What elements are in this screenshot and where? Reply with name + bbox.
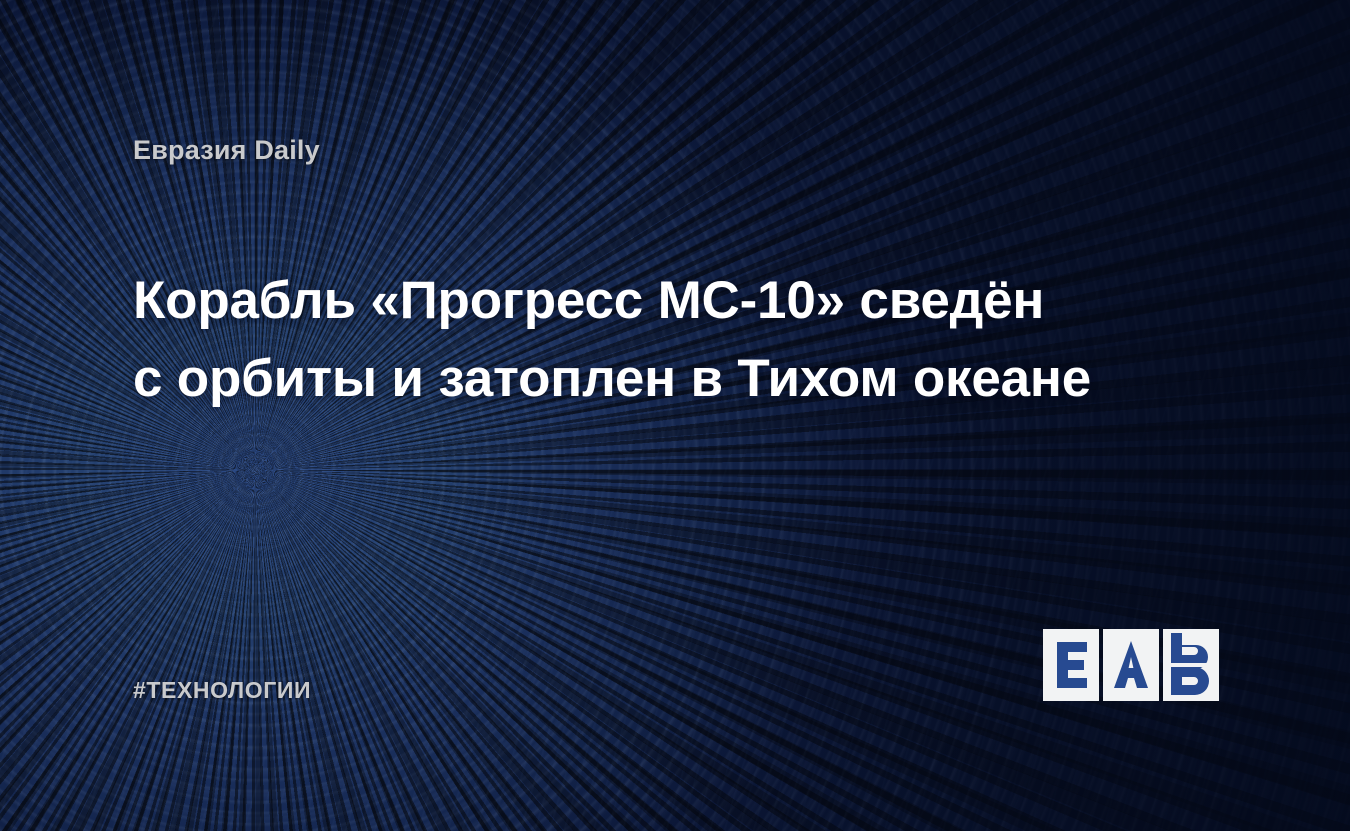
share-card: Евразия Daily Корабль «Прогресс МС-10» с… [0, 0, 1350, 831]
letter-e-tile-icon [1043, 629, 1099, 701]
headline-line-2: с орбиты и затоплен в Тихом океане [133, 340, 1163, 418]
eadaily-logo[interactable] [1043, 629, 1219, 701]
letter-a-tile-icon [1103, 629, 1159, 701]
headline: Корабль «Прогресс МС-10» сведён с орбиты… [133, 262, 1163, 418]
topic-tag: #ТЕХНОЛОГИИ [133, 677, 311, 704]
headline-line-1: Корабль «Прогресс МС-10» сведён [133, 262, 1163, 340]
letter-b-d-split-tile-icon [1163, 629, 1219, 701]
site-name: Евразия Daily [133, 135, 320, 166]
